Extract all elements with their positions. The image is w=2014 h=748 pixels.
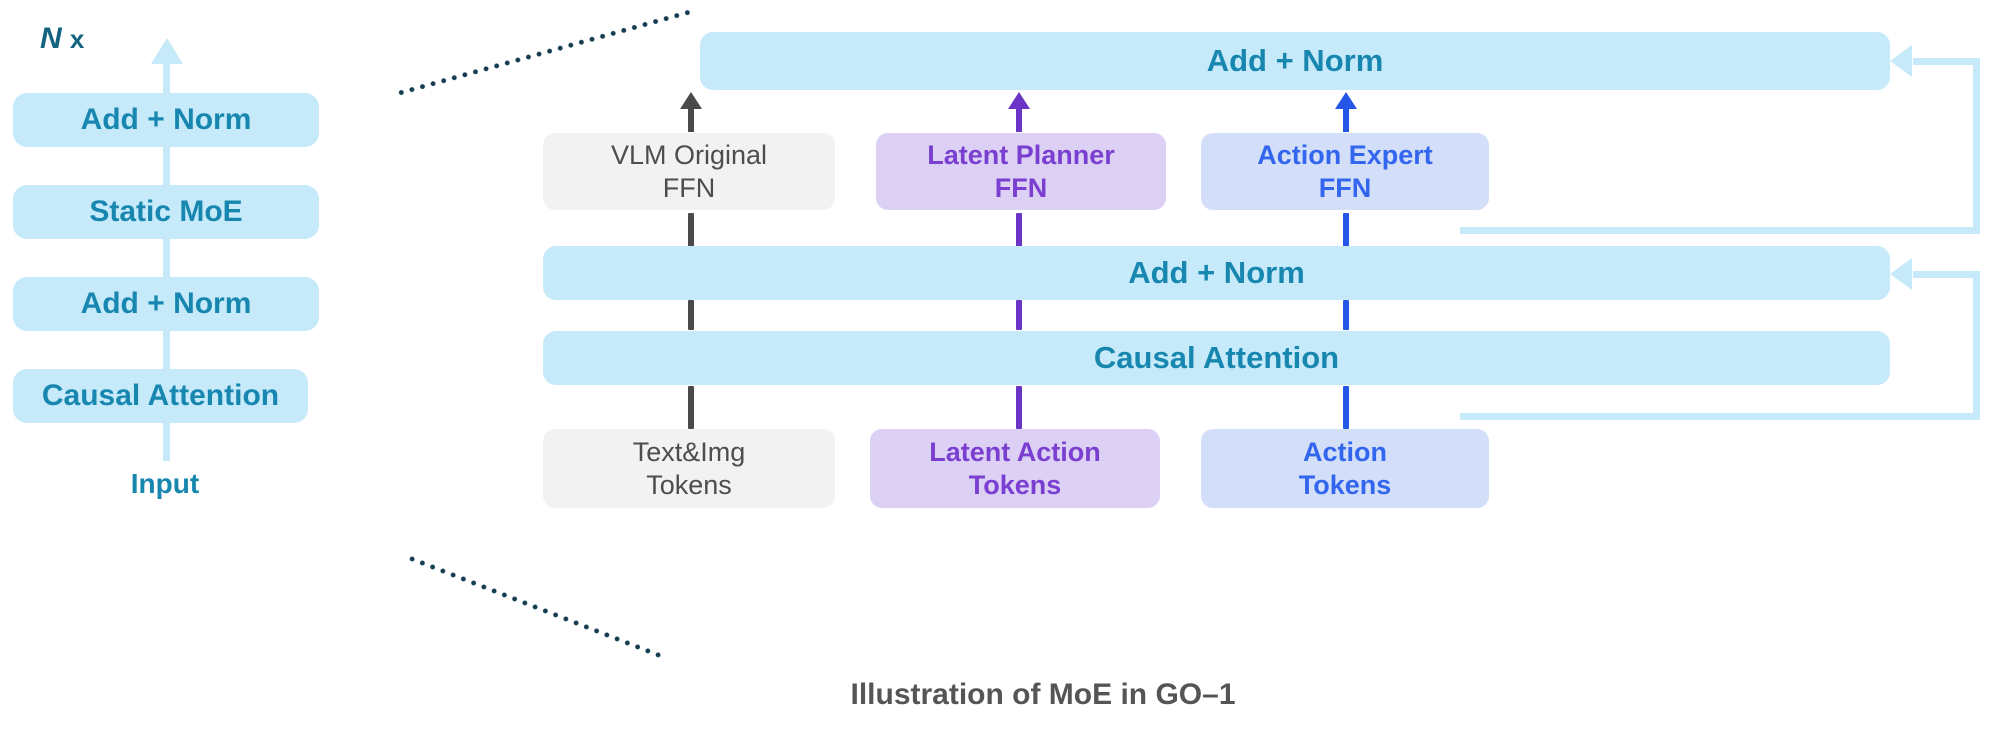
stub-attention-to-action-tokens: [1343, 386, 1349, 429]
left-flow-line-1: [163, 145, 170, 187]
ffn-box-action-expert: Action Expert FFN: [1201, 133, 1489, 210]
stub-action-norm-to-attention: [1343, 300, 1349, 330]
residual-top-vertical: [1973, 58, 1980, 234]
arrow-shaft: [1343, 106, 1349, 132]
left-input-text: Input: [131, 468, 199, 499]
ffn-box-label: VLM Original FFN: [611, 139, 767, 205]
arrow-up-latent-planner-ffn: [1000, 92, 1038, 132]
dotted-connector-bottom: [406, 554, 666, 660]
right-mid-add-norm-label: Add + Norm: [1128, 254, 1305, 292]
left-block-add-norm-top: Add + Norm: [13, 93, 319, 147]
right-top-add-norm-label: Add + Norm: [1207, 42, 1384, 80]
residual-top-horizontal-top: [1913, 58, 1980, 65]
right-causal-attention: Causal Attention: [543, 331, 1890, 385]
left-flow-arrowhead: [151, 38, 183, 64]
diagram-canvas: N x Add + Norm Static MoE Add + Norm Cau…: [0, 0, 2014, 748]
residual-top-arrowhead: [1890, 45, 1912, 77]
token-box-label: Latent Action Tokens: [929, 436, 1101, 502]
stub-attention-to-latent-tokens: [1016, 386, 1022, 429]
stub-latent-planner-to-norm: [1016, 213, 1022, 248]
figure-caption: Illustration of MoE in GO–1: [543, 678, 1543, 712]
residual-top-horizontal-bottom: [1460, 227, 1980, 234]
right-top-add-norm: Add + Norm: [700, 32, 1890, 90]
repeat-count-n: N: [40, 22, 62, 55]
arrow-up-action-expert-ffn: [1327, 92, 1365, 132]
left-input-label: Input: [60, 468, 270, 500]
stub-vlm-ffn-to-norm: [688, 213, 694, 248]
left-block-label: Add + Norm: [81, 286, 252, 323]
figure-caption-text: Illustration of MoE in GO–1: [850, 678, 1235, 711]
left-block-static-moe: Static MoE: [13, 185, 319, 239]
stub-action-expert-to-norm: [1343, 213, 1349, 248]
token-box-label: Action Tokens: [1299, 436, 1392, 502]
arrow-shaft: [1016, 106, 1022, 132]
left-block-causal-attention: Causal Attention: [13, 369, 308, 423]
repeat-count-x: x: [62, 24, 85, 54]
left-flow-line-2: [163, 237, 170, 279]
stub-attention-to-text-tokens: [688, 386, 694, 429]
left-block-label: Static MoE: [89, 194, 242, 231]
left-flow-line-bottom: [163, 421, 170, 461]
residual-mid-horizontal-top: [1913, 271, 1980, 278]
left-block-add-norm-bottom: Add + Norm: [13, 277, 319, 331]
token-box-text-img: Text&Img Tokens: [543, 429, 835, 508]
arrow-up-vlm-ffn: [672, 92, 710, 132]
ffn-box-vlm-original: VLM Original FFN: [543, 133, 835, 210]
token-box-latent-action: Latent Action Tokens: [870, 429, 1160, 508]
arrow-shaft: [688, 106, 694, 132]
stub-latent-norm-to-attention: [1016, 300, 1022, 330]
ffn-box-latent-planner: Latent Planner FFN: [876, 133, 1166, 210]
ffn-box-label: Action Expert FFN: [1257, 139, 1433, 205]
stub-vlm-norm-to-attention: [688, 300, 694, 330]
residual-mid-horizontal-bottom: [1460, 413, 1980, 420]
residual-mid-arrowhead: [1890, 258, 1912, 290]
right-mid-add-norm: Add + Norm: [543, 246, 1890, 300]
left-flow-line-3: [163, 329, 170, 371]
left-block-label: Causal Attention: [42, 378, 279, 415]
ffn-box-label: Latent Planner FFN: [927, 139, 1115, 205]
right-causal-attention-label: Causal Attention: [1094, 339, 1339, 377]
dotted-connector-top: [395, 9, 691, 97]
token-box-action: Action Tokens: [1201, 429, 1489, 508]
residual-mid-vertical: [1973, 271, 1980, 420]
token-box-label: Text&Img Tokens: [633, 436, 746, 502]
repeat-count-label: N x: [40, 22, 85, 56]
left-block-label: Add + Norm: [81, 102, 252, 139]
